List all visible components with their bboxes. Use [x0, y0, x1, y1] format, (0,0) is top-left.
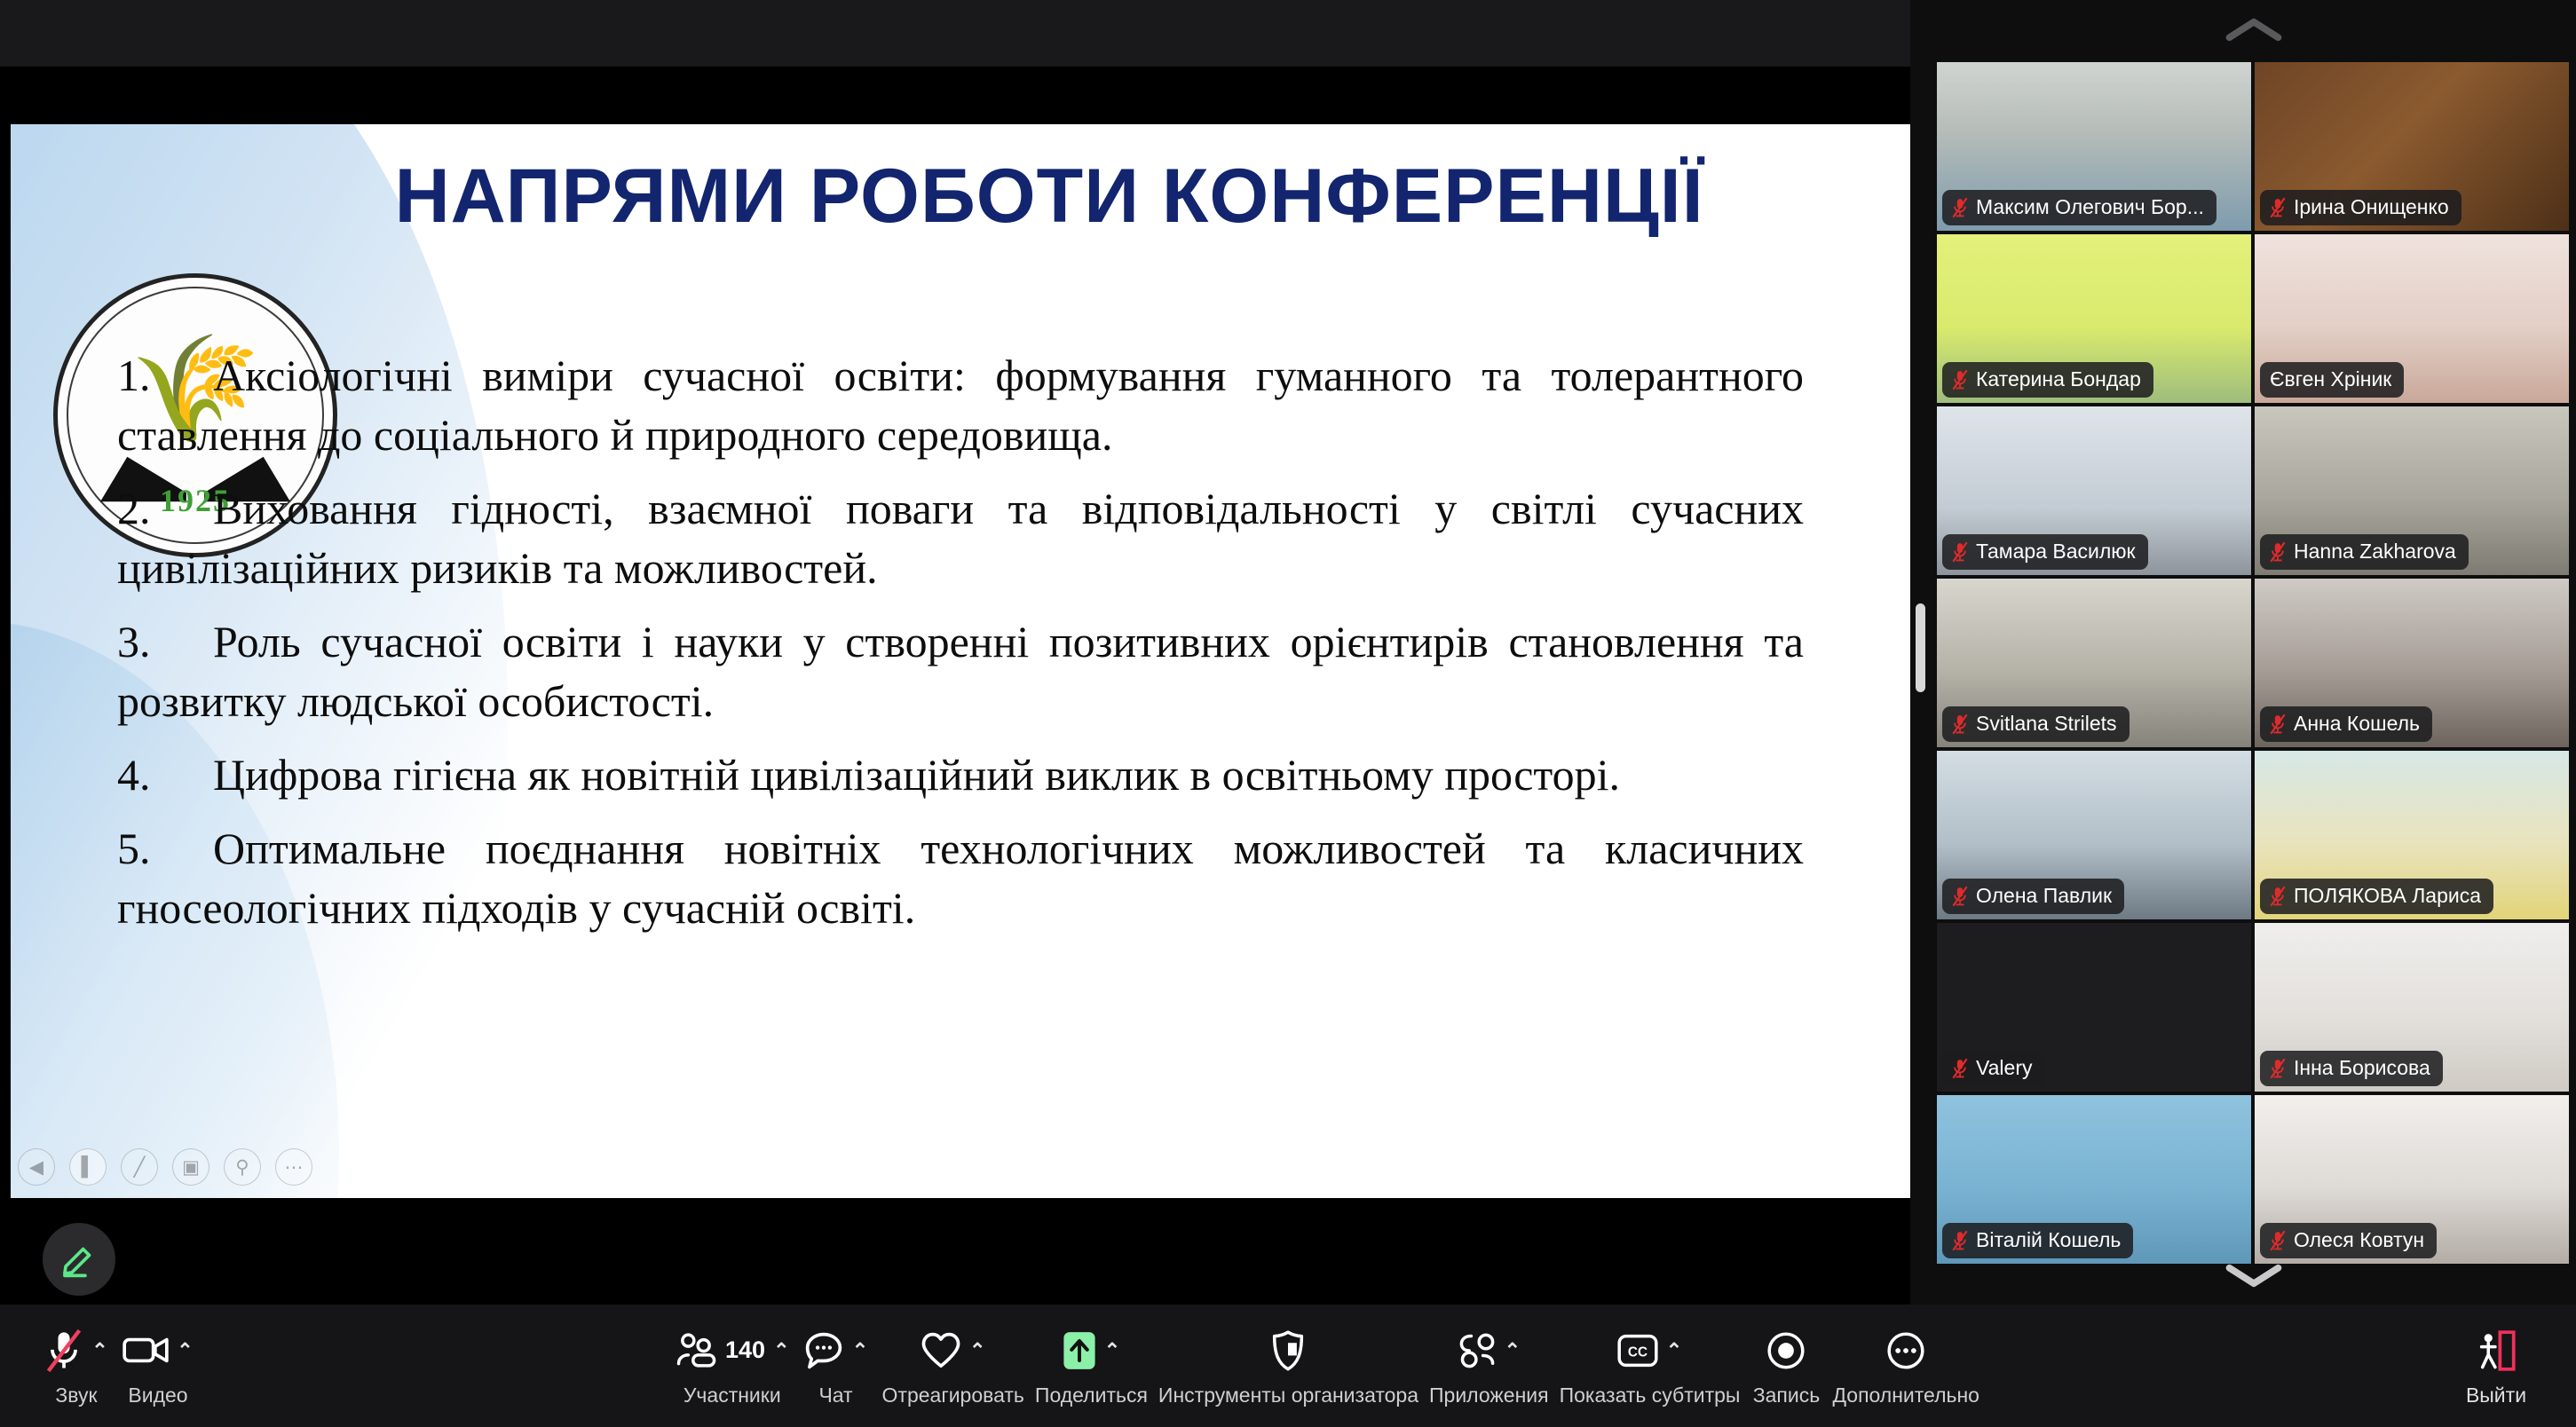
share-scrollbar[interactable]	[1910, 0, 1932, 1305]
people-icon	[675, 1333, 717, 1368]
apps-icon	[1458, 1331, 1497, 1370]
participant-nameplate: Інна Борисова	[2260, 1051, 2443, 1086]
toolbar-button-more[interactable]: Дополнительно	[1827, 1325, 1985, 1407]
participant-tile[interactable]: Valery	[1937, 923, 2251, 1092]
toolbar-button-captions[interactable]: CC⌃Показать субтитры	[1554, 1325, 1746, 1407]
slide-list-item: 4.Цифрова гігієна як новітній цивілізаці…	[117, 745, 1804, 805]
participant-nameplate: Євген Хріник	[2260, 362, 2404, 398]
participant-filmstrip: Максим Олегович Бор...Ірина ОнищенкоКате…	[1932, 0, 2576, 1305]
microphone-muted-icon	[2270, 541, 2286, 563]
participant-name: Hanna Zakharova	[2294, 540, 2456, 564]
participant-nameplate: Катерина Бондар	[1942, 362, 2153, 398]
microphone-muted-icon	[44, 1328, 83, 1373]
chevron-up-icon[interactable]: ⌃	[969, 1341, 985, 1360]
scrollbar-thumb[interactable]	[1916, 603, 1925, 692]
toolbar-label-react: Отреагировать	[882, 1383, 1024, 1407]
microphone-muted-icon	[2270, 197, 2286, 218]
participant-tile[interactable]: Максим Олегович Бор...	[1937, 62, 2251, 231]
participant-tile[interactable]: Ірина Онищенко	[2255, 62, 2569, 231]
toolbar-right-group: Выйти	[2455, 1325, 2537, 1407]
participant-name: Тамара Василюк	[1976, 540, 2136, 564]
meeting-window: 🌾 1925 НАПРЯМИ РОБОТИ КОНФЕРЕНЦІЇ 1.Аксі…	[0, 0, 2576, 1427]
participant-tile[interactable]: Інна Борисова	[2255, 923, 2569, 1092]
chevron-up-icon[interactable]: ⌃	[91, 1341, 107, 1360]
participant-name: Євген Хріник	[2270, 367, 2391, 391]
participant-nameplate: Valery	[1942, 1051, 2045, 1086]
chevron-up-icon[interactable]: ⌃	[177, 1341, 193, 1360]
share-up-icon	[1063, 1331, 1096, 1370]
microphone-muted-icon	[1952, 369, 1968, 390]
slide-item-text: Аксіологічні виміри сучасної освіти: фор…	[117, 351, 1804, 460]
annotation-toolbar[interactable]: ◀ ▌ ╱ ▣ ⚲ ⋯	[18, 1148, 312, 1186]
participant-tile[interactable]: Катерина Бондар	[1937, 234, 2251, 403]
chevron-up-icon[interactable]: ⌃	[1666, 1341, 1682, 1360]
toolbar-button-chat[interactable]: ⌃Чат	[795, 1325, 877, 1407]
toolbar-label-participants: Участники	[684, 1383, 781, 1407]
toolbar-label-more: Дополнительно	[1832, 1383, 1979, 1407]
microphone-muted-icon	[1952, 541, 1968, 563]
magnifier-icon[interactable]: ⚲	[224, 1148, 261, 1186]
chevron-up-icon[interactable]: ⌃	[1104, 1341, 1120, 1360]
chevron-down-icon	[2224, 1263, 2283, 1289]
svg-text:CC: CC	[1628, 1344, 1648, 1360]
participant-name: ПОЛЯКОВА Лариса	[2294, 884, 2481, 908]
participant-nameplate: Hanna Zakharova	[2260, 534, 2469, 570]
toolbar-label-video: Видео	[128, 1383, 187, 1407]
slide-item-number: 1.	[117, 346, 213, 406]
participant-name: Ірина Онищенко	[2294, 195, 2449, 219]
heart-icon	[921, 1331, 961, 1370]
slide-list-item: 1.Аксіологічні виміри сучасної освіти: ф…	[117, 346, 1804, 465]
toolbar-button-participants[interactable]: 140⌃Участники	[669, 1325, 795, 1407]
slide-title: НАПРЯМИ РОБОТИ КОНФЕРЕНЦІЇ	[383, 151, 1715, 241]
toolbar-label-share: Поделиться	[1035, 1383, 1148, 1407]
content-row: 🌾 1925 НАПРЯМИ РОБОТИ КОНФЕРЕНЦІЇ 1.Аксі…	[0, 0, 2576, 1305]
slide-list-item: 2.Виховання гідності, взаємної поваги та…	[117, 479, 1804, 598]
toolbar-button-audio[interactable]: ⌃Звук	[36, 1325, 117, 1407]
toolbar-label-host-tools: Инструменты организатора	[1158, 1383, 1418, 1407]
slide-item-number: 4.	[117, 745, 213, 805]
slide-item-number: 2.	[117, 479, 213, 539]
participant-count: 140	[725, 1336, 765, 1364]
chat-bubble-icon	[803, 1331, 844, 1370]
more-icon[interactable]: ⋯	[275, 1148, 312, 1186]
microphone-muted-icon	[2270, 886, 2286, 907]
exit-door-icon	[2477, 1330, 2516, 1371]
annotate-button[interactable]	[43, 1223, 115, 1296]
participant-tile[interactable]: Анна Кошель	[2255, 579, 2569, 747]
microphone-muted-icon	[1952, 886, 1968, 907]
toolbar-label-audio: Звук	[55, 1383, 97, 1407]
microphone-muted-icon	[1952, 713, 1968, 735]
chevron-up-icon	[2224, 17, 2283, 43]
microphone-muted-icon	[1952, 197, 1968, 218]
participant-nameplate: Svitlana Strilets	[1942, 706, 2130, 742]
record-icon	[1767, 1332, 1805, 1369]
slide-body: НАПРЯМИ РОБОТИ КОНФЕРЕНЦІЇ 1.Аксіологічн…	[11, 124, 1910, 1198]
participant-tile[interactable]: Олеся Ковтун	[2255, 1095, 2569, 1264]
toolbar-label-record: Запись	[1753, 1383, 1820, 1407]
participant-tile[interactable]: ПОЛЯКОВА Лариса	[2255, 751, 2569, 919]
slide-item-text: Виховання гідності, взаємної поваги та в…	[117, 484, 1804, 593]
slide-list-item: 3.Роль сучасної освіти і науки у створен…	[117, 612, 1804, 731]
toolbar-center-group: 140⌃Участники⌃Чат⌃Отреагировать⌃Поделить…	[669, 1325, 1985, 1407]
letterbox-top	[0, 67, 1917, 124]
ellipsis-icon	[1887, 1332, 1924, 1369]
slide-item-text: Роль сучасної освіти і науки у створенні…	[117, 617, 1804, 726]
pencil-icon	[59, 1239, 99, 1280]
slide-item-number: 3.	[117, 612, 213, 672]
presentation-slide: 🌾 1925 НАПРЯМИ РОБОТИ КОНФЕРЕНЦІЇ 1.Аксі…	[11, 124, 1910, 1198]
microphone-muted-icon	[2270, 713, 2286, 735]
toolbar-button-react[interactable]: ⌃Отреагировать	[877, 1325, 1030, 1407]
shield-icon	[1271, 1330, 1305, 1371]
microphone-muted-icon	[2270, 1058, 2286, 1079]
grid-icon[interactable]: ▣	[172, 1148, 209, 1186]
toolbar-button-leave[interactable]: Выйти	[2455, 1325, 2537, 1407]
toolbar-button-video[interactable]: ⌃Видео	[117, 1325, 199, 1407]
toolbar-left-group: ⌃Звук⌃Видео	[36, 1325, 199, 1407]
participant-tile[interactable]: Євген Хріник	[2255, 234, 2569, 403]
shared-screen-view[interactable]: 🌾 1925 НАПРЯМИ РОБОТИ КОНФЕРЕНЦІЇ 1.Аксі…	[0, 0, 1917, 1305]
participant-name: Олена Павлик	[1976, 884, 2112, 908]
toolbar-label-apps: Приложения	[1429, 1383, 1549, 1407]
toolbar-button-host-tools[interactable]: Инструменты организатора	[1153, 1325, 1424, 1407]
filmstrip-scroll-down-button[interactable]	[1932, 1246, 2576, 1305]
filmstrip-scroll-up-button[interactable]	[1932, 0, 2576, 59]
participant-name: Максим Олегович Бор...	[1976, 195, 2204, 219]
participant-name: Valery	[1976, 1056, 2033, 1080]
toolbar-label-captions: Показать субтитры	[1560, 1383, 1741, 1407]
pen-icon[interactable]: ╱	[121, 1148, 158, 1186]
triangle-left-icon[interactable]: ◀	[18, 1148, 55, 1186]
participant-tile[interactable]: Олена Павлик	[1937, 751, 2251, 919]
slide-item-number: 5.	[117, 819, 213, 879]
camera-icon	[122, 1336, 169, 1365]
share-top-strip	[0, 0, 1917, 67]
slide-item-text: Оптимальне поєднання новітніх технологіч…	[117, 824, 1804, 933]
participant-name: Катерина Бондар	[1976, 367, 2141, 391]
toolbar-label-chat: Чат	[818, 1383, 852, 1407]
participant-nameplate: Ірина Онищенко	[2260, 190, 2461, 225]
chevron-up-icon[interactable]: ⌃	[852, 1341, 868, 1360]
slide-item-text: Цифрова гігієна як новітній цивілізаційн…	[213, 750, 1620, 800]
cc-icon: CC	[1617, 1334, 1658, 1368]
participant-nameplate: Максим Олегович Бор...	[1942, 190, 2216, 225]
chevron-up-icon[interactable]: ⌃	[773, 1341, 789, 1360]
participant-name: Інна Борисова	[2294, 1056, 2430, 1080]
slide-bullet-list: 1.Аксіологічні виміри сучасної освіти: ф…	[117, 346, 1804, 952]
participant-nameplate: Тамара Василюк	[1942, 534, 2148, 570]
participant-nameplate: ПОЛЯКОВА Лариса	[2260, 879, 2493, 914]
toolbar-label-leave: Выйти	[2466, 1383, 2526, 1407]
participant-tile[interactable]: Svitlana Strilets	[1937, 579, 2251, 747]
toolbar-button-record[interactable]: Запись	[1745, 1325, 1827, 1407]
slide-list-item: 5.Оптимальне поєднання новітніх технолог…	[117, 819, 1804, 938]
microphone-muted-icon	[1952, 1058, 1968, 1079]
toolbar-button-apps[interactable]: ⌃Приложения	[1424, 1325, 1554, 1407]
toolbar-button-share[interactable]: ⌃Поделиться	[1030, 1325, 1153, 1407]
participant-name: Svitlana Strilets	[1976, 712, 2117, 736]
participant-tile[interactable]: Тамара Василюк	[1937, 406, 2251, 575]
participant-nameplate: Анна Кошель	[2260, 706, 2432, 742]
meeting-toolbar: ⌃Звук⌃Видео 140⌃Участники⌃Чат⌃Отреагиров…	[0, 1305, 2576, 1427]
participant-name: Анна Кошель	[2294, 712, 2420, 736]
chevron-up-icon[interactable]: ⌃	[1505, 1341, 1521, 1360]
participant-tile[interactable]: Hanna Zakharova	[2255, 406, 2569, 575]
participant-tiles: Максим Олегович Бор...Ірина ОнищенкоКате…	[1937, 62, 2569, 1242]
participant-nameplate: Олена Павлик	[1942, 879, 2124, 914]
participant-tile[interactable]: Віталій Кошель	[1937, 1095, 2251, 1264]
